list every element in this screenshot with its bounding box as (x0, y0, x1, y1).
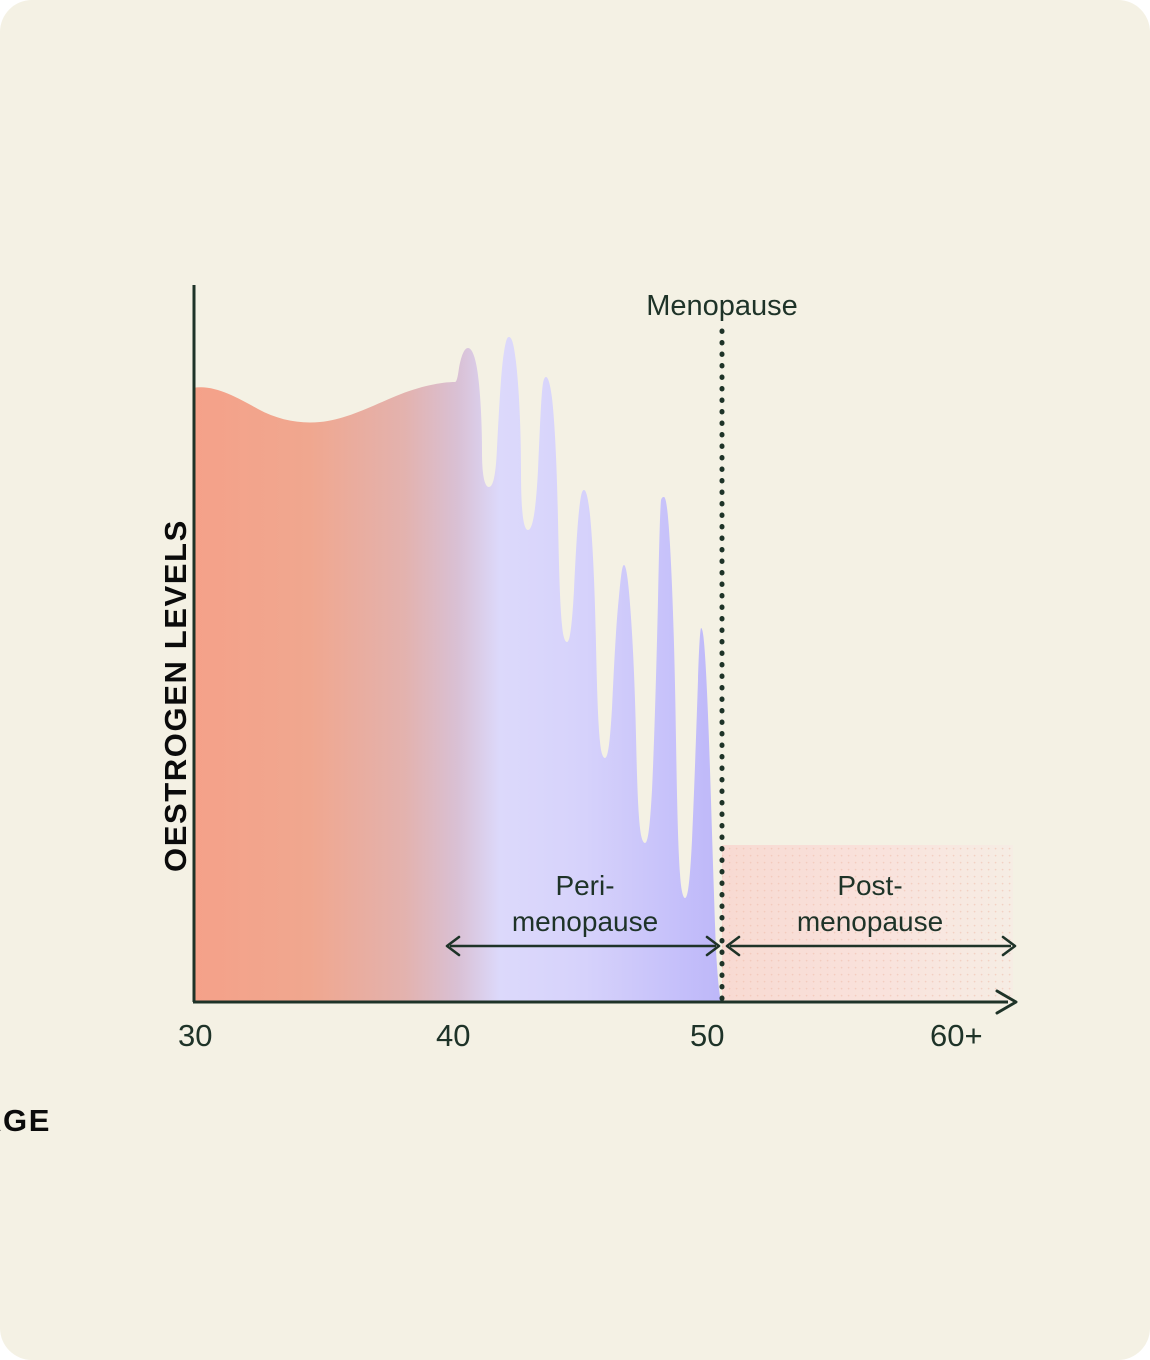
peri-menopause-label: Peri- menopause (512, 868, 658, 940)
x-axis-title: AGE (0, 1103, 590, 1139)
x-tick-label-40: 40 (436, 1018, 470, 1054)
post-menopause-label-line2: menopause (797, 904, 943, 940)
post-menopause-label: Post- menopause (797, 868, 943, 940)
x-tick-label-30: 30 (178, 1018, 212, 1054)
x-tick-label-50: 50 (690, 1018, 724, 1054)
menopause-marker-label: Menopause (646, 290, 798, 323)
peri-menopause-label-line2: menopause (512, 904, 658, 940)
y-axis-title: OESTROGEN LEVELS (158, 519, 194, 872)
post-menopause-label-line1: Post- (797, 868, 943, 904)
peri-menopause-label-line1: Peri- (512, 868, 658, 904)
chart-card: OESTROGEN LEVELS AGE Menopause Peri- men… (0, 0, 1150, 1360)
x-tick-label-60-plus: 60+ (930, 1018, 983, 1054)
